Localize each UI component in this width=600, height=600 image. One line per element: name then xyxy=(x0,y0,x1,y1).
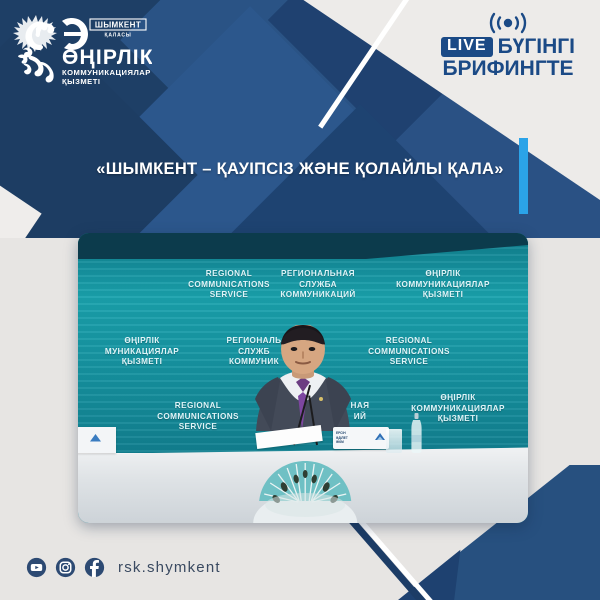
live-chip: LIVE xyxy=(441,37,493,57)
backdrop-text-block: ӨҢІРЛІКМУНИКАЦИЯЛАРҚЫЗМЕТІ xyxy=(84,336,200,368)
logo-org-sub2: ҚЫЗМЕТІ xyxy=(62,77,100,86)
backdrop-text-line: КОММУНИКАЦИЙ xyxy=(258,290,378,301)
backdrop-text-block: ӨҢІРЛІККОММУНИКАЦИЯЛАРҚЫЗМЕТІ xyxy=(378,269,508,301)
side-diamond-icon xyxy=(89,433,102,446)
backdrop-text-line: КОММУНИКАЦИЯЛАР xyxy=(378,280,508,291)
live-line-1: БҮГІНГІ xyxy=(498,36,575,57)
backdrop-text-line: ҚЫЗМЕТІ xyxy=(378,290,508,301)
live-line-2: БРИФИНГТЕ xyxy=(430,58,586,81)
footer-social-bar: rsk.shymkent xyxy=(26,557,221,578)
logo-city-banner: ШЫМКЕНТ xyxy=(95,20,141,29)
instagram-icon[interactable] xyxy=(55,557,76,578)
backdrop-text-line: ӨҢІРЛІК xyxy=(378,269,508,280)
poster-canvas: ШЫМКЕНТ ҚАЛАСЫ ӨҢІРЛІК КОММУНИКАЦИЯЛАР Қ… xyxy=(0,0,600,600)
broadcast-wave-icon xyxy=(481,12,535,34)
page-title: «ШЫМКЕНТ – ҚАУІПСІЗ ЖӘНЕ ҚОЛАЙЛЫ ҚАЛА» xyxy=(0,160,600,179)
logo-org-sub1: КОММУНИКАЦИЯЛАР xyxy=(62,68,151,77)
backdrop-text-line: ӨҢІРЛІК xyxy=(396,393,520,404)
backdrop-text-line: ҚЫЗМЕТІ xyxy=(84,357,200,368)
social-handle[interactable]: rsk.shymkent xyxy=(118,559,221,576)
backdrop-text-line: РЕГИОНАЛЬНАЯ xyxy=(258,269,378,280)
briefing-photo: REGIONALCOMMUNICATIONSSERVICEРЕГИОНАЛЬНА… xyxy=(78,233,528,523)
side-nameplate xyxy=(78,427,116,453)
youtube-icon[interactable] xyxy=(26,557,47,578)
water-bottle xyxy=(410,413,423,453)
facebook-icon[interactable] xyxy=(84,557,105,578)
cyan-accent-bar xyxy=(519,138,528,214)
backdrop-text-line: МУНИКАЦИЯЛАР xyxy=(84,347,200,358)
backdrop-text-line: ӨҢІРЛІК xyxy=(84,336,200,347)
backdrop-text-line: СЛУЖБА xyxy=(258,280,378,291)
shanyrak-emblem xyxy=(250,443,360,523)
live-row: LIVE БҮГІНГІ xyxy=(430,36,586,57)
logo-org-name: ӨҢІРЛІК xyxy=(62,46,152,69)
nameplate-diamond-icon xyxy=(374,432,386,444)
backdrop-text-block: РЕГИОНАЛЬНАЯСЛУЖБАКОММУНИКАЦИЙ xyxy=(258,269,378,301)
live-badge-block: LIVE БҮГІНГІ БРИФИНГТЕ xyxy=(430,12,586,81)
snow-leopard-emblem: ШЫМКЕНТ ҚАЛАСЫ ӨҢІРЛІК КОММУНИКАЦИЯЛАР Қ… xyxy=(12,6,152,92)
logo-city-sub: ҚАЛАСЫ xyxy=(104,33,131,39)
water-glass xyxy=(386,429,402,453)
